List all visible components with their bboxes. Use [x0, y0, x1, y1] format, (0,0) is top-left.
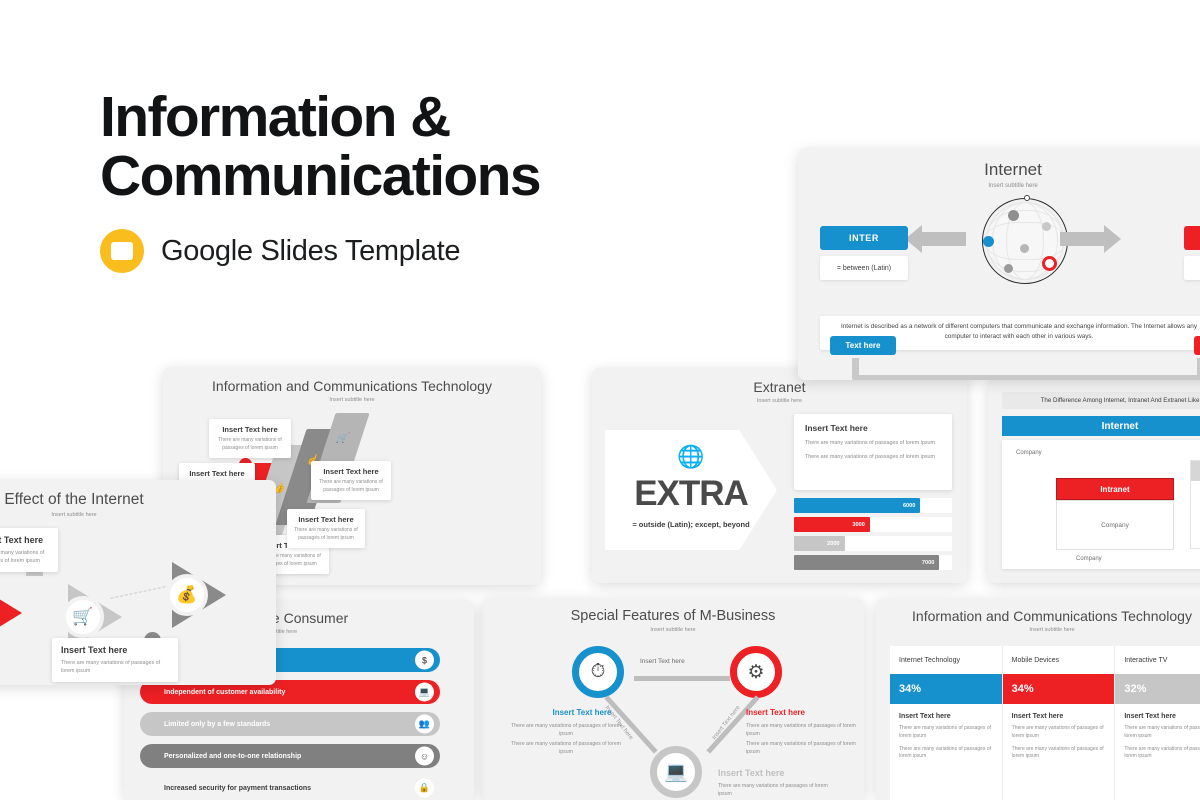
step-card-title: Insert Text here — [186, 469, 248, 478]
ict-table: Internet Technology 34% Insert Text here… — [890, 646, 1200, 800]
ict-table-column[interactable]: Interactive TV 32% Insert Text here Ther… — [1115, 646, 1200, 800]
note-desc-1: There are many variations of passages of… — [805, 439, 941, 447]
ict-column-body: Insert Text here There are many variatio… — [1003, 704, 1115, 770]
ict-body-desc-2: There are many variations of passages of… — [1124, 746, 1200, 762]
difference-header: The Difference Among Internet, Intranet … — [1002, 392, 1200, 409]
globe-network-graphic — [980, 196, 1070, 286]
ict-column-header: Interactive TV — [1115, 646, 1200, 674]
arrow-right-icon — [1060, 232, 1104, 246]
consumer-row[interactable]: Increased security for payment transacti… — [140, 776, 440, 800]
net-definition: = network — [1184, 256, 1200, 280]
slide-effect-of-internet[interactable]: Effect of the Internet Insert subtitle h… — [0, 480, 276, 685]
difference-body: Company Intranet Company Company — [1002, 440, 1200, 569]
slide-ict-title: Information and Communications Technolog… — [163, 378, 541, 394]
slide-effect-subtitle: Insert subtitle here — [0, 512, 276, 518]
bar-value: 3000 — [794, 517, 870, 532]
mbusiness-node-label-red: Insert Text here — [746, 708, 842, 717]
page-title: Information & Communications — [100, 88, 720, 205]
hero-section: Information & Communications Google Slid… — [100, 88, 720, 273]
ict-body-title: Insert Text here — [1012, 713, 1106, 720]
effect-card-desc: There are many variations of passages of… — [0, 549, 49, 565]
bar-row: 6000 — [794, 498, 952, 513]
inter-definition: = between (Latin) — [820, 256, 908, 280]
bar-row: 2000 — [794, 536, 952, 551]
difference-right-column — [1190, 460, 1200, 549]
shield-lock-icon: 🔒 — [415, 779, 434, 798]
mbusiness-node-desc-red-2: There are many variations of passages of… — [746, 740, 856, 756]
ict-column-body: Insert Text here There are many variatio… — [1115, 704, 1200, 770]
text-pill-blue[interactable]: Text here — [830, 336, 896, 355]
effect-card[interactable]: Insert Text here There are many variatio… — [0, 528, 58, 572]
arrow-left-icon — [922, 232, 966, 246]
slide-extranet[interactable]: Extranet Insert subtitle here 🌐 EXTRA = … — [592, 368, 967, 583]
people-icon: 👥 — [415, 715, 434, 734]
slide-ict-table[interactable]: Information and Communications Technolog… — [876, 598, 1200, 800]
monitor-icon: 💻 — [415, 683, 434, 702]
ict-body-desc-2: There are many variations of passages of… — [1012, 746, 1106, 762]
step-card[interactable]: Insert Text here There are many variatio… — [287, 509, 365, 548]
extra-definition: = outside (Latin); except, beyond — [605, 520, 777, 529]
ict-body-title: Insert Text here — [1124, 713, 1200, 720]
ict-column-header: Mobile Devices — [1003, 646, 1115, 674]
bar-row: 3000 — [794, 517, 952, 532]
step-card[interactable]: Insert Text here There are many variatio… — [311, 461, 391, 500]
bar-value: 2000 — [794, 536, 845, 551]
effect-card-desc: There are many variations of passages of… — [61, 659, 169, 675]
bar-value: 6000 — [794, 498, 920, 513]
mbusiness-arrow-top — [634, 676, 730, 681]
effect-card-title: Insert Text here — [61, 645, 169, 655]
slide-extranet-subtitle: Insert subtitle here — [592, 398, 967, 404]
shopping-cart-icon: 🛒 — [335, 433, 351, 444]
hero-subtitle: Google Slides Template — [161, 235, 460, 268]
extranet-note-card[interactable]: Insert Text here There are many variatio… — [794, 414, 952, 490]
consumer-row-label: Increased security for payment transacti… — [164, 785, 311, 792]
slide-mbusiness-subtitle: Insert subtitle here — [482, 627, 864, 633]
extra-word: EXTRA — [605, 476, 777, 511]
hero-subtitle-row: Google Slides Template — [100, 229, 720, 273]
extra-banner: 🌐 EXTRA = outside (Latin); except, beyon… — [605, 430, 777, 550]
company-label-top: Company — [1016, 450, 1042, 456]
mbusiness-node-desc-gray: There are many variations of passages of… — [718, 782, 830, 798]
ict-table-column[interactable]: Internet Technology 34% Insert Text here… — [890, 646, 1003, 800]
slide-ict-table-subtitle: Insert subtitle here — [876, 627, 1200, 633]
ict-column-body: Insert Text here There are many variatio… — [890, 704, 1002, 770]
slide-ict-subtitle: Insert subtitle here — [163, 397, 541, 403]
dollar-icon: $ — [415, 651, 434, 670]
ict-column-percent: 34% — [890, 674, 1002, 704]
step-card-desc: There are many variations of passages of… — [216, 437, 284, 452]
step-card-desc: There are many variations of passages of… — [294, 527, 358, 542]
note-title: Insert Text here — [805, 423, 941, 433]
slide-internet-subtitle: Insert subtitle here — [798, 183, 1200, 189]
shopping-cart-icon: 🛒 — [62, 596, 104, 638]
connector-graphic — [852, 358, 1200, 380]
slide-effect-title: Effect of the Internet — [0, 491, 276, 509]
consumer-row[interactable]: Personalized and one-to-one relationship… — [140, 744, 440, 768]
step-card-title: Insert Text here — [318, 467, 384, 476]
ict-table-column[interactable]: Mobile Devices 34% Insert Text here Ther… — [1003, 646, 1116, 800]
title-line-1: Information & — [100, 85, 450, 149]
step-card-desc: There are many variations of passages of… — [318, 479, 384, 494]
slide-extranet-title: Extranet — [592, 379, 967, 395]
globe-sync-icon: 🌐 — [605, 444, 777, 470]
mbusiness-node-label-blue: Insert Text here — [534, 708, 630, 717]
ict-column-header: Internet Technology — [890, 646, 1002, 674]
step-card-title: Insert Text here — [294, 515, 358, 524]
ict-body-desc-1: There are many variations of passages of… — [1012, 725, 1106, 741]
effect-card[interactable]: Insert Text here There are many variatio… — [52, 638, 178, 682]
inter-button[interactable]: INTER — [820, 226, 908, 250]
net-button[interactable]: NET — [1184, 226, 1200, 250]
laptop-chart-icon: 💻 — [650, 746, 702, 798]
mbusiness-arrow-top-label: Insert Text here — [640, 658, 685, 665]
ict-body-desc-1: There are many variations of passages of… — [1124, 725, 1200, 741]
internet-band: Internet — [1002, 416, 1200, 436]
intranet-chip: Intranet — [1056, 478, 1174, 500]
money-coins-icon: 💰 — [166, 574, 208, 616]
consumer-row[interactable]: Limited only by a few standards 👥 — [140, 712, 440, 736]
slide-ict-table-title: Information and Communications Technolog… — [876, 608, 1200, 624]
effect-triangle-red — [0, 580, 22, 646]
title-line-2: Communications — [100, 147, 720, 206]
gear-icon: ⚙ — [730, 646, 782, 698]
consumer-row-label: Limited only by a few standards — [164, 721, 270, 728]
ict-body-title: Insert Text here — [899, 713, 993, 720]
slide-difference[interactable]: The Difference Among Internet, Intranet … — [988, 378, 1200, 583]
bar-value: 7000 — [794, 555, 939, 570]
company-label-mid: Company — [1056, 500, 1174, 550]
note-desc-2: There are many variations of passages of… — [805, 453, 941, 461]
slide-mbusiness[interactable]: Special Features of M-Business Insert su… — [482, 598, 864, 800]
step-card[interactable]: Insert Text here There are many variatio… — [209, 419, 291, 458]
effect-card-title: Insert Text here — [0, 535, 49, 545]
stopwatch-icon: ⏱ — [572, 646, 624, 698]
step-card-title: Insert Text here — [216, 425, 284, 434]
mbusiness-node-desc-blue-2: There are many variations of passages of… — [506, 740, 626, 756]
mbusiness-node-desc-red-1: There are many variations of passages of… — [746, 722, 856, 738]
text-pill-red[interactable]: Text here — [1194, 336, 1200, 355]
google-slides-icon — [100, 229, 144, 273]
consumer-row-label: Independent of customer availability — [164, 689, 285, 696]
mbusiness-node-desc-blue-1: There are many variations of passages of… — [506, 722, 626, 738]
slide-internet[interactable]: Internet Insert subtitle here INTER = be… — [798, 148, 1200, 380]
ict-body-desc-1: There are many variations of passages of… — [899, 725, 993, 741]
company-label-bottom: Company — [1076, 556, 1102, 562]
consumer-row-label: Personalized and one-to-one relationship — [164, 753, 301, 760]
ict-column-percent: 34% — [1003, 674, 1115, 704]
mbusiness-node-label-gray: Insert Text here — [718, 768, 784, 778]
user-gear-icon: ☺ — [415, 747, 434, 766]
bar-row: 7000 — [794, 555, 952, 570]
ict-body-desc-2: There are many variations of passages of… — [899, 746, 993, 762]
ict-column-percent: 32% — [1115, 674, 1200, 704]
slide-internet-title: Internet — [798, 160, 1200, 180]
slide-mbusiness-title: Special Features of M-Business — [482, 608, 864, 624]
